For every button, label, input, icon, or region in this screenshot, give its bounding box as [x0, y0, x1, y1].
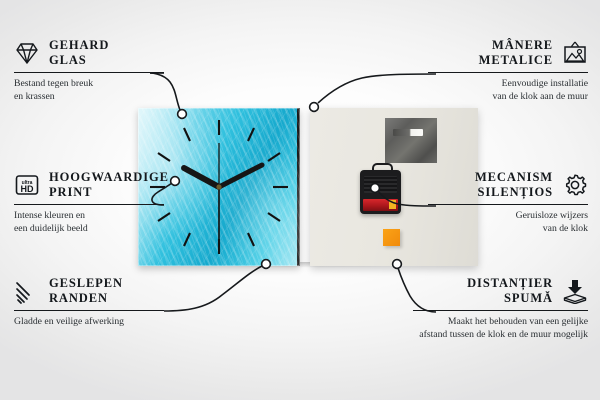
hanger-slot — [393, 129, 423, 136]
feature-subtitle: Maakt het behouden van een gelijke afsta… — [408, 316, 588, 341]
feature-mecanism-silentios: MECANISM SILENȚIOS Geruisloze wijzers va… — [408, 170, 588, 235]
infographic-canvas: GEHARD GLAS Bestand tegen breuk en krass… — [0, 0, 600, 400]
feature-title: GEHARD GLAS — [49, 38, 109, 69]
feature-divider — [413, 310, 588, 311]
beveled-edges-icon — [14, 278, 40, 304]
picture-hanger-icon — [562, 40, 588, 66]
svg-text:HD: HD — [21, 184, 34, 194]
mechanism-hook — [372, 163, 393, 174]
gear-icon — [562, 172, 588, 198]
diamond-icon — [14, 40, 40, 66]
feature-distantier-spuma: DISTANȚIER SPUMĂ Maakt het behouden van … — [408, 276, 588, 341]
clock-mechanism — [360, 170, 401, 214]
press-down-icon — [562, 278, 588, 304]
feature-geslepen-randen: GESLEPEN RANDEN Gladde en veilige afwerk… — [14, 276, 184, 329]
clock-hands-and-ticks — [138, 108, 300, 266]
feature-divider — [14, 310, 164, 311]
foam-spacer — [383, 229, 400, 246]
battery — [363, 199, 398, 211]
feature-subtitle: Bestand tegen breuk en krassen — [14, 78, 184, 103]
feature-divider — [428, 72, 588, 73]
feature-divider — [14, 72, 164, 73]
feature-title: MECANISM SILENȚIOS — [475, 170, 553, 201]
feature-title: GESLEPEN RANDEN — [49, 276, 123, 307]
battery-terminal — [389, 200, 396, 209]
feature-subtitle: Geruisloze wijzers van de klok — [408, 210, 588, 235]
feature-gehard-glas: GEHARD GLAS Bestand tegen breuk en krass… — [14, 38, 184, 103]
feature-subtitle: Eenvoudige installatie van de klok aan d… — [408, 78, 588, 103]
ultra-hd-icon: ultra HD — [14, 172, 40, 198]
mechanism-grille — [364, 176, 397, 193]
feature-divider — [428, 204, 588, 205]
feature-subtitle: Gladde en veilige afwerking — [14, 316, 184, 329]
feature-title: DISTANȚIER SPUMĂ — [467, 276, 553, 307]
feature-title: MÂNERE METALICE — [479, 38, 553, 69]
hanger-plate — [385, 118, 437, 163]
feature-manere-metalice: MÂNERE METALICE Eenvoudige installatie v… — [408, 38, 588, 103]
